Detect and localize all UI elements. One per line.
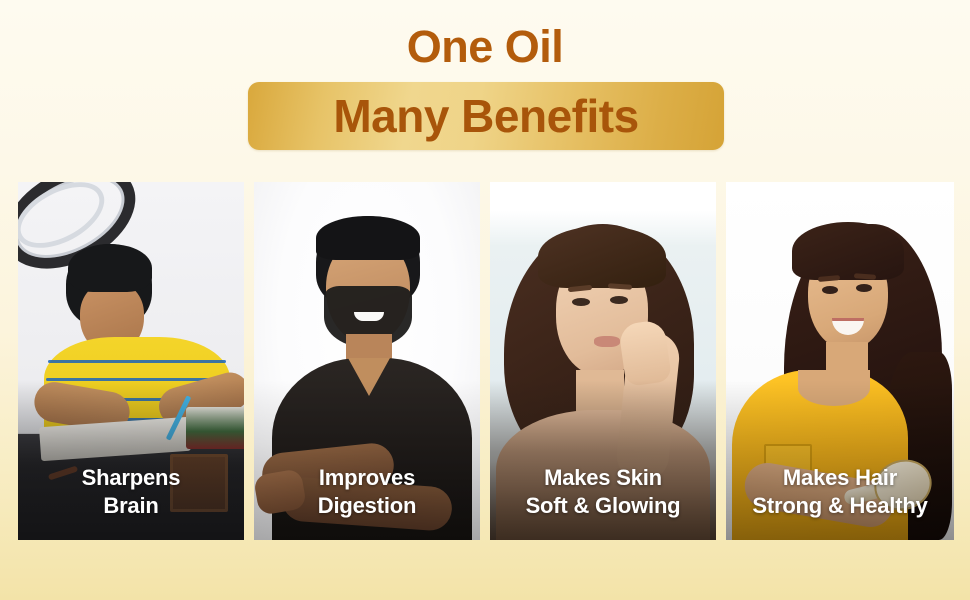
benefit-card-improves-digestion[interactable]: Improves Digestion	[254, 182, 480, 540]
benefit-card-makes-hair-strong-healthy[interactable]: Makes Hair Strong & Healthy	[726, 182, 954, 540]
benefit-caption: Improves Digestion	[254, 464, 480, 520]
benefits-card-row: Sharpens Brain Improves Digestion	[18, 182, 952, 540]
gold-headline-plate: Many Benefits	[248, 82, 724, 150]
promo-banner: One Oil Many Benefits	[0, 0, 970, 600]
benefit-card-sharpens-brain[interactable]: Sharpens Brain	[18, 182, 244, 540]
benefit-caption: Makes Skin Soft & Glowing	[490, 464, 716, 520]
benefit-card-makes-skin-soft-glowing[interactable]: Makes Skin Soft & Glowing	[490, 182, 716, 540]
benefit-caption: Sharpens Brain	[18, 464, 244, 520]
benefit-caption: Makes Hair Strong & Healthy	[726, 464, 954, 520]
headline-primary: One Oil	[0, 22, 970, 72]
banner-header: One Oil Many Benefits	[0, 0, 970, 170]
headline-secondary: Many Benefits	[248, 82, 724, 150]
